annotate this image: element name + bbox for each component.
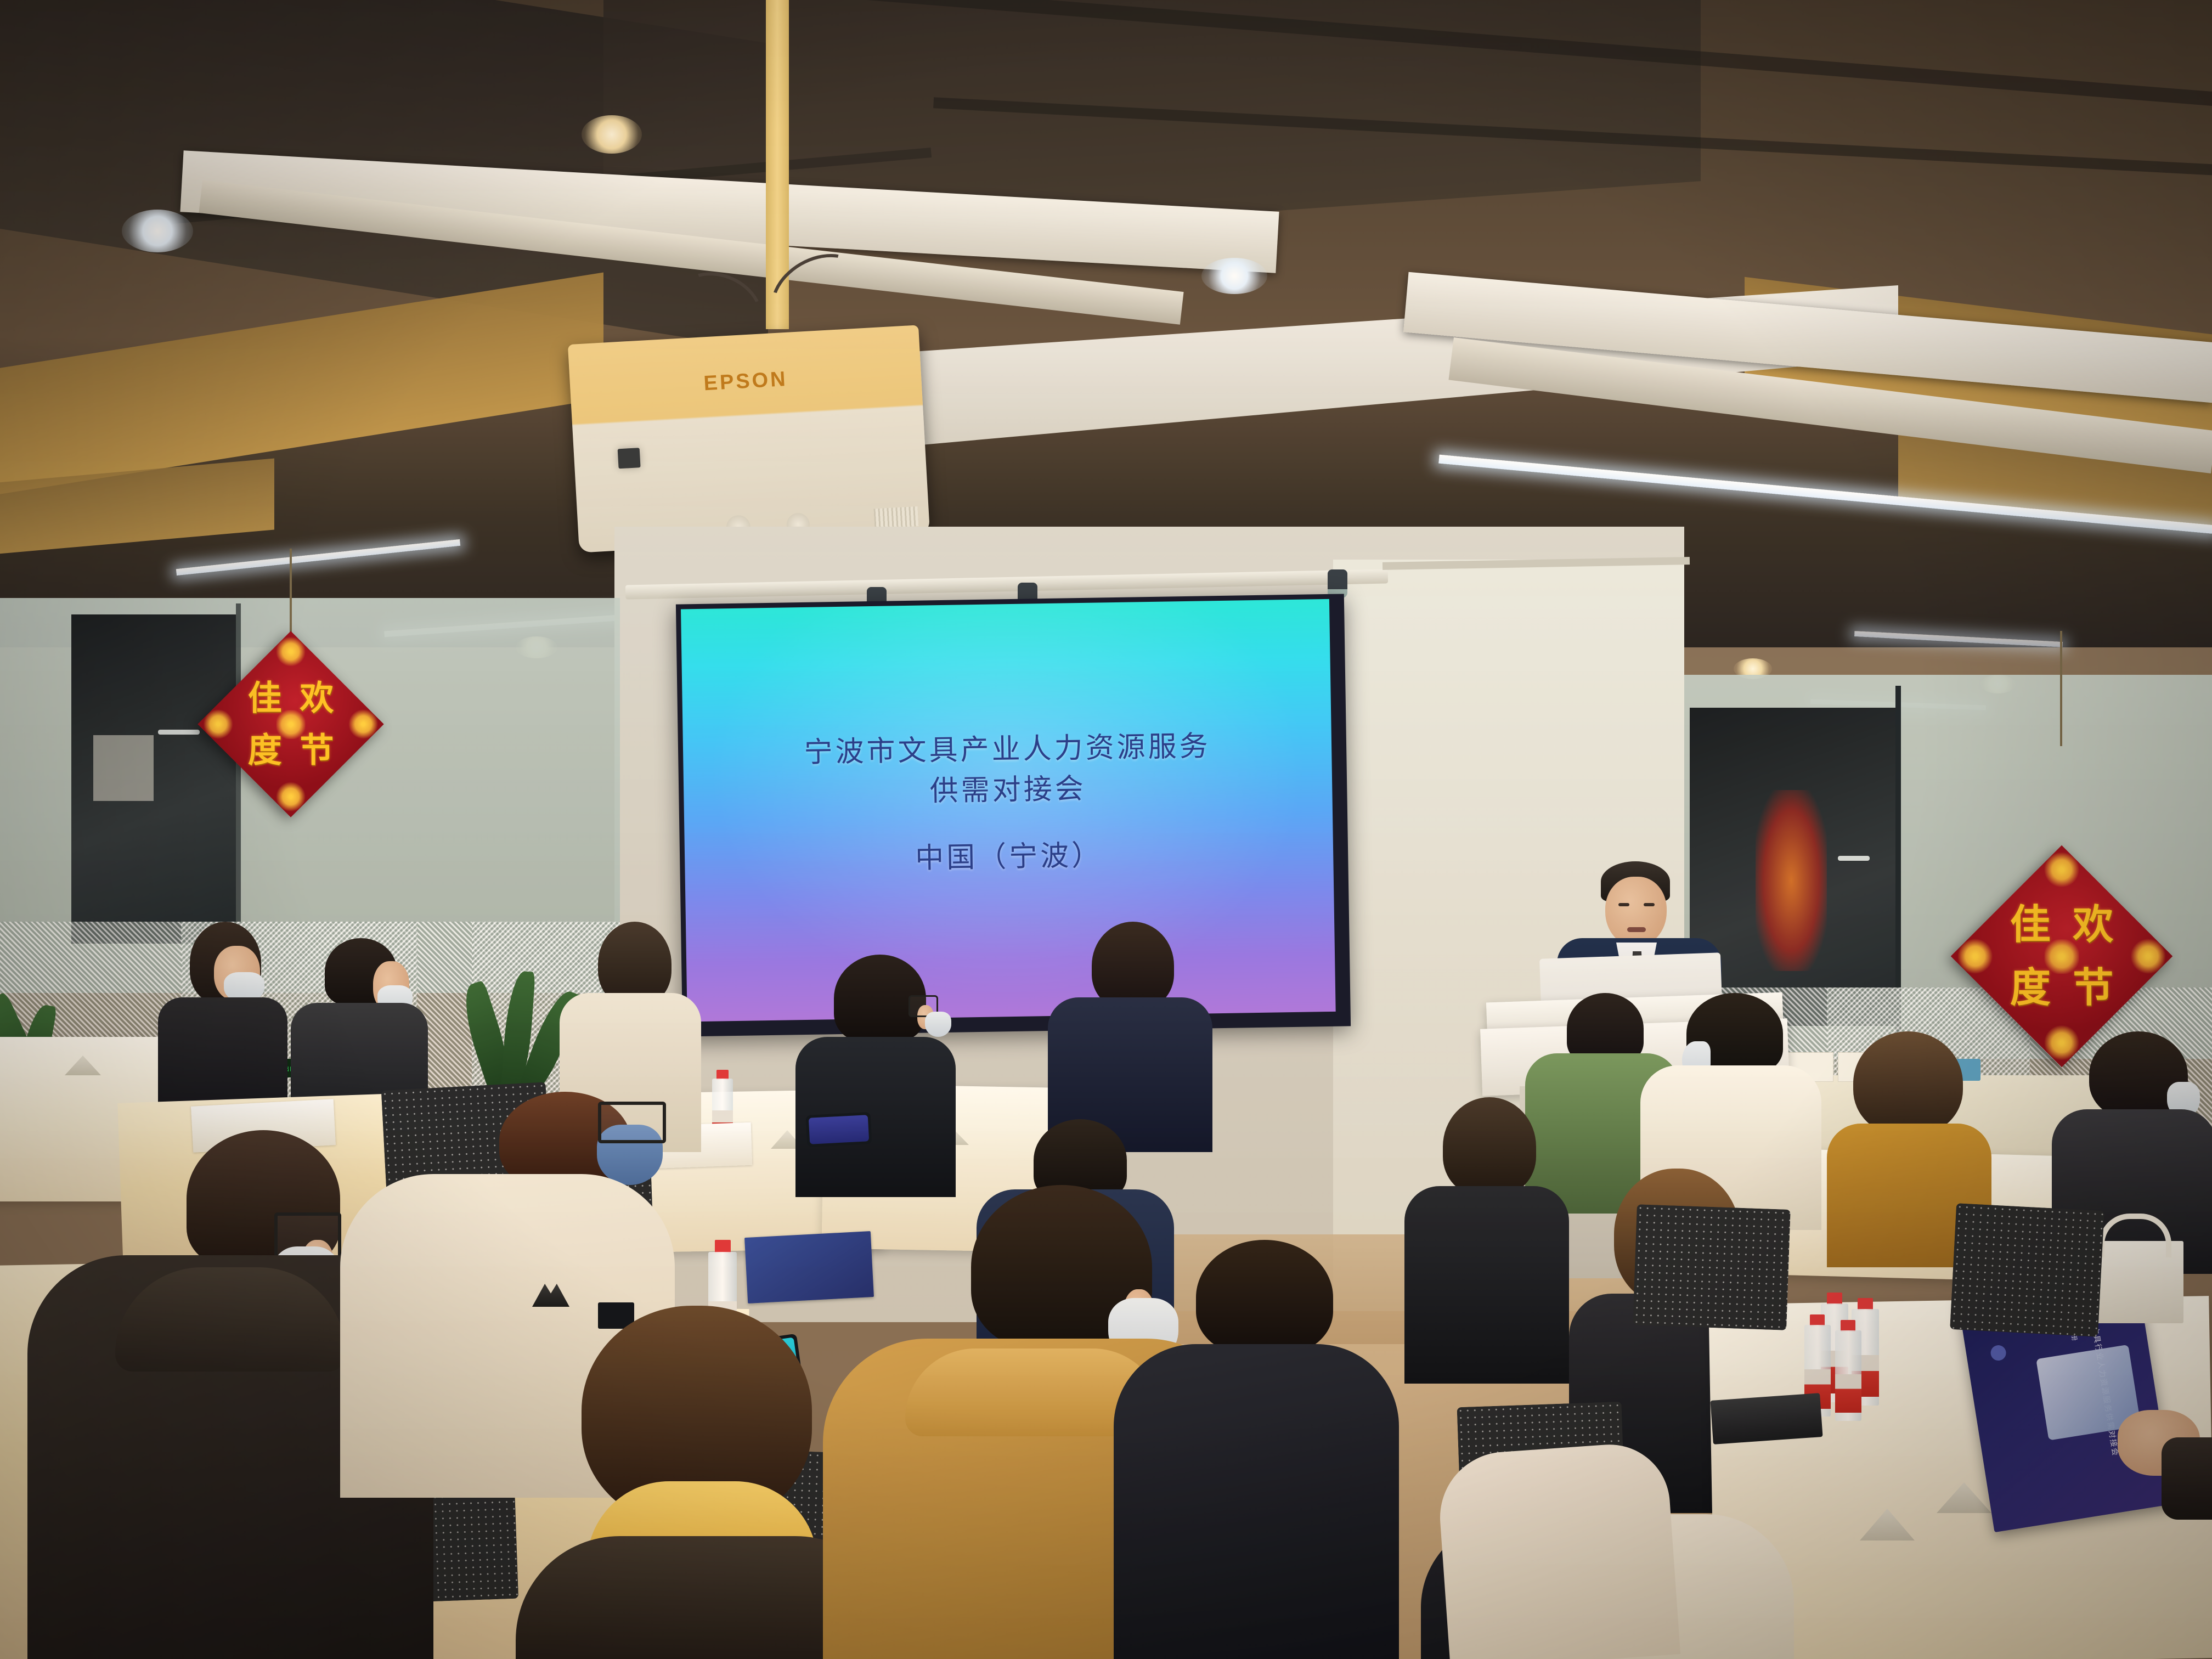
attendee-hair (1092, 922, 1174, 1009)
bottle-cap (1810, 1314, 1825, 1326)
decoration-char-left: 佳 (241, 674, 288, 721)
conference-room-photo: EPSON 宁波市文具产业人力资源服务 供需对接会 中国（宁波） 安全出口 (0, 0, 2212, 1659)
speaker-eye (1644, 903, 1655, 906)
decoration-hanging-string (2060, 631, 2062, 746)
attendee (1114, 1240, 1399, 1659)
eyeglasses (598, 1102, 666, 1143)
speaker-eye (1618, 903, 1629, 906)
slide-subtitle: 中国（宁波） (685, 828, 1334, 880)
decoration-char-top: 欢 (2065, 897, 2121, 953)
wall-poster-reflection (93, 735, 154, 801)
speaker-face (1605, 877, 1667, 947)
attendee (795, 955, 955, 1196)
downlight (582, 115, 642, 154)
projector-brand-label: EPSON (569, 360, 921, 403)
attendee-dark-jacket (1114, 1344, 1399, 1659)
draped-coat (1436, 1441, 1680, 1659)
bottle-cap (1858, 1298, 1873, 1310)
glass-door-handle[interactable] (1838, 856, 1870, 861)
bottle-cap (1841, 1320, 1855, 1331)
smartphone[interactable] (806, 1112, 872, 1147)
attendee-hair (1196, 1240, 1333, 1355)
decoration-char-bottom: 度 (2002, 960, 2058, 1015)
projector: EPSON (568, 325, 930, 552)
projector-lens (618, 448, 641, 469)
glass-mullion (1895, 686, 1901, 1037)
handbook-cover-accent (1990, 1344, 2007, 1362)
bottle-label (1835, 1374, 1861, 1413)
decoration-char-right: 节 (294, 727, 341, 774)
attendee-hair (1853, 1031, 1963, 1136)
glass-door-handle[interactable] (158, 730, 200, 735)
bottle-cap (1827, 1293, 1842, 1305)
attendee-sleeve (2162, 1437, 2212, 1520)
laptop[interactable] (1710, 1393, 1822, 1444)
downlight (1201, 258, 1267, 294)
projector-vent (873, 506, 918, 528)
chair[interactable] (1950, 1203, 2104, 1337)
decoration-char-left: 佳 (2002, 897, 2058, 953)
bottle-cap (715, 1240, 731, 1253)
water-bottle (1833, 1320, 1863, 1421)
projection-screen: 宁波市文具产业人力资源服务 供需对接会 中国（宁波） (676, 594, 1351, 1036)
chair[interactable] (1633, 1204, 1791, 1330)
projection-screen-surface: 宁波市文具产业人力资源服务 供需对接会 中国（宁波） (681, 599, 1336, 1022)
chinese-knot-decal (1756, 790, 1827, 971)
decoration-char-bottom: 度 (241, 727, 288, 774)
attendee (154, 922, 291, 1114)
attendee-dark-coat (1404, 1186, 1569, 1384)
attendee-hair (1443, 1097, 1536, 1196)
decoration-char-top: 欢 (294, 674, 341, 721)
downlight (122, 210, 193, 252)
attendee (1404, 1097, 1569, 1383)
face-mask (925, 1012, 951, 1037)
decoration-char-right: 节 (2065, 960, 2121, 1015)
speaker-mouth (1627, 927, 1646, 932)
attendee (1048, 922, 1212, 1152)
